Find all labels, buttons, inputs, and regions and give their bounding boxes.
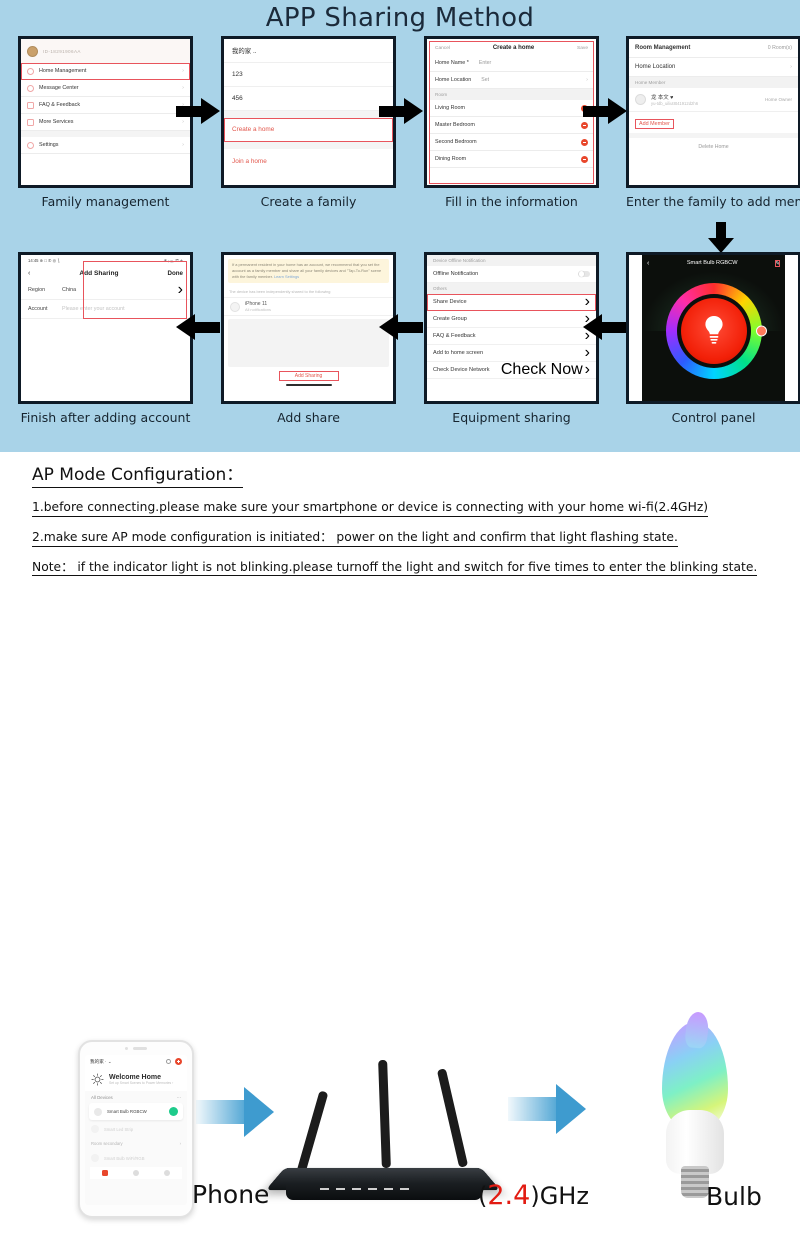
router-antenna: [437, 1068, 468, 1167]
empty-area: [228, 319, 389, 367]
home-icon: [27, 68, 34, 75]
room-group-header: Room secondary ›: [85, 1138, 187, 1149]
home-list-item[interactable]: 123: [224, 63, 393, 87]
divider: [224, 142, 393, 149]
step-caption: Finish after adding account: [18, 410, 193, 425]
label-phone: Phone: [192, 1180, 269, 1209]
bulb-icon: [91, 1154, 99, 1162]
step-finish-adding-account: 14:45 ⊕ □ ✆ ◎ ⎞ ④ ᵢ₄₃ₖ ⎚ ⏚ ‹ Add Sharing…: [18, 252, 193, 425]
offline-section-header: Device Offline Notification: [427, 255, 596, 266]
color-wheel-knob[interactable]: [756, 325, 767, 336]
field-label: Region: [28, 287, 62, 293]
bulb-screw-base: [681, 1166, 709, 1198]
device-sub: All notifications: [245, 307, 271, 312]
field-value: Set: [481, 77, 489, 83]
room-label: Master Bedroom: [435, 122, 475, 128]
step-fill-information: Cancel Create a home Save Home Name * En…: [424, 36, 599, 209]
ap-mode-step-2: 2.make sure AP mode configuration is ini…: [32, 530, 678, 547]
field-home-location[interactable]: Home Location Set ›: [429, 72, 594, 89]
router-illustration: [268, 1052, 498, 1217]
welcome-title: Welcome Home: [109, 1074, 173, 1081]
menu-item-settings[interactable]: Settings ›: [21, 137, 190, 154]
bell-icon[interactable]: [166, 1059, 171, 1064]
remove-room-icon[interactable]: [581, 156, 588, 163]
connection-illustration: 我的家 · ⌄: [0, 1012, 800, 1252]
menu-item-share-device[interactable]: Share Device ›: [427, 294, 596, 311]
phone-mockup: 我的家 · ⌄: [78, 1040, 194, 1218]
step-caption: Equipment sharing: [424, 410, 599, 425]
share-notice: If a permanent resident in your home has…: [228, 259, 389, 283]
device-icon: [230, 302, 240, 312]
device-power-toggle[interactable]: [169, 1107, 178, 1116]
ghz-suffix: )GHz: [530, 1182, 589, 1210]
add-sharing-button[interactable]: Add Sharing: [279, 371, 339, 381]
menu-item-label: Home Management: [39, 68, 86, 74]
device-name: Smart Bulb RGBCW: [107, 1109, 147, 1114]
flow-row-top: ID-18291906AA Home Management › Message …: [0, 36, 800, 226]
notice-text: If a permanent resident in your home has…: [232, 262, 381, 279]
step-add-members: Room Management 0 Room(s) Home Location …: [626, 36, 800, 209]
menu-item-label: FAQ & Feedback: [433, 333, 476, 339]
step-caption: Fill in the information: [424, 194, 599, 209]
device-card-group[interactable]: Smart Bulb WiFi/RGB: [85, 1149, 187, 1167]
control-panel-navbar: ‹ Smart Bulb RGBCW ✎: [642, 255, 785, 271]
home-selector[interactable]: 我的家 · ⌄: [90, 1059, 112, 1065]
chevron-left-icon[interactable]: ‹: [647, 260, 649, 267]
device-name: Smart Bulb WiFi/RGB: [104, 1156, 145, 1161]
flow-arrow-left: [583, 314, 627, 340]
chevron-right-icon: ›: [182, 142, 184, 148]
bulb-icon: [94, 1108, 102, 1116]
step-control-panel: ‹ Smart Bulb RGBCW ✎: [626, 252, 800, 425]
services-icon: [27, 119, 34, 126]
rooms-section-header: Room: [429, 89, 594, 100]
account-header: ID-18291906AA: [21, 39, 190, 63]
menu-item-home-location[interactable]: Home Location ›: [629, 58, 798, 77]
page-title: Room Management: [635, 45, 690, 51]
menu-item-label: Check Device Network: [433, 367, 490, 373]
room-label: Second Bedroom: [435, 139, 477, 145]
step-caption: Family management: [18, 194, 193, 209]
sun-icon: [91, 1073, 104, 1086]
step-equipment-sharing: Device Offline Notification Offline Noti…: [424, 252, 599, 425]
bulb-icon: [703, 315, 725, 345]
phone-screen-device-settings: Device Offline Notification Offline Noti…: [424, 252, 599, 404]
home-list-item[interactable]: 456: [224, 87, 393, 111]
share-subnote: The device has been independently shared…: [224, 287, 393, 297]
form-title: Create a home: [493, 45, 534, 51]
bulb-illustration: [648, 1022, 744, 1200]
ap-mode-note: Note： if the indicator light is not blin…: [32, 560, 757, 577]
ghz-number: 2.4: [487, 1180, 530, 1211]
phone-screen-create-family: 我的家 .. 123 456 Create a home Join a home: [221, 36, 396, 188]
check-now-label: Check Now: [501, 361, 583, 379]
room-item-living-room[interactable]: Living Room: [429, 100, 594, 117]
flow-arrow-right: [583, 98, 627, 124]
notice-link[interactable]: Learn Settings: [274, 274, 299, 279]
bottom-tabbar: [90, 1167, 182, 1179]
setting-offline-notification[interactable]: Offline Notification: [427, 266, 596, 283]
divider: [224, 111, 393, 118]
label-ghz: (2.4)GHz: [478, 1180, 589, 1211]
ap-mode-section: AP Mode Configuration： 1.before connecti…: [0, 452, 800, 800]
tab-scene-icon[interactable]: [133, 1170, 139, 1176]
menu-item-label: More Services: [39, 119, 73, 125]
add-sharing-highlight: [83, 261, 187, 319]
step-family-management: ID-18291906AA Home Management › Message …: [18, 36, 193, 209]
chevron-right-icon: ›: [182, 68, 184, 74]
step-caption: Create a family: [221, 194, 396, 209]
create-home-button[interactable]: Create a home: [224, 118, 393, 142]
field-placeholder: Enter: [479, 60, 491, 66]
tab-profile-icon[interactable]: [164, 1170, 170, 1176]
save-button[interactable]: Save: [577, 46, 588, 51]
room-label: Dining Room: [435, 156, 466, 162]
chevron-down-icon[interactable]: ›: [180, 1141, 181, 1146]
tab-home-icon[interactable]: [102, 1170, 108, 1176]
strip-icon: [91, 1125, 99, 1133]
delete-home-button[interactable]: Delete Home: [629, 138, 798, 155]
step-add-share: If a permanent resident in your home has…: [221, 252, 396, 425]
step-caption: Control panel: [626, 410, 800, 425]
member-section-header: Home Member: [629, 77, 798, 88]
router-leds: [320, 1188, 409, 1190]
speaker-grille: [133, 1047, 147, 1050]
shared-device-row[interactable]: iPhone 11 All notifications: [224, 297, 393, 316]
offline-notification-toggle[interactable]: [578, 271, 590, 278]
menu-item-home-management[interactable]: Home Management ›: [21, 63, 190, 80]
room-count: 0 Room(s): [768, 45, 792, 51]
router-front: [286, 1184, 482, 1200]
side-margin-left: [629, 255, 642, 401]
message-icon: [27, 85, 34, 92]
gear-icon: [27, 142, 34, 149]
field-value: China: [62, 287, 76, 293]
ghz-prefix: (: [478, 1182, 487, 1210]
room-item-dining-room[interactable]: Dining Room: [429, 151, 594, 168]
menu-item-label: Create Group: [433, 316, 467, 322]
flow-row-bottom: 14:45 ⊕ □ ✆ ◎ ⎞ ④ ᵢ₄₃ₖ ⎚ ⏚ ‹ Add Sharing…: [0, 252, 800, 442]
menu-item-label: Add to home screen: [433, 350, 483, 356]
bulb-body: [666, 1110, 724, 1174]
back-icon[interactable]: ‹: [28, 270, 30, 277]
remove-room-icon[interactable]: [581, 139, 588, 146]
side-margin-right: [785, 255, 798, 401]
color-preview-disc: [681, 298, 747, 364]
control-panel-body: ‹ Smart Bulb RGBCW ✎: [629, 255, 798, 401]
ap-mode-step-1: 1.before connecting.please make sure you…: [32, 500, 708, 517]
menu-item-label: Settings: [39, 142, 58, 148]
menu-item-faq-feedback[interactable]: FAQ & Feedback ›: [21, 97, 190, 114]
faq-icon: [27, 102, 34, 109]
member-email: yu-tdb_uiliut8t41912d2h6: [651, 101, 698, 106]
label-bulb: Bulb: [706, 1182, 762, 1211]
flow-arrow-left: [379, 314, 423, 340]
device-card[interactable]: Smart Bulb RGBCW: [89, 1103, 183, 1120]
step-create-family: 我的家 .. 123 456 Create a home Join a home…: [221, 36, 396, 209]
device-name: Smart Led Strip: [104, 1127, 133, 1132]
avatar: [635, 94, 646, 105]
add-member-button[interactable]: Add Member: [635, 119, 674, 129]
phone-screen-room-management: Room Management 0 Room(s) Home Location …: [626, 36, 800, 188]
step-caption: Enter the family to add members: [626, 194, 800, 209]
phone-screen-control-panel: ‹ Smart Bulb RGBCW ✎: [626, 252, 800, 404]
member-role: Home Owner: [765, 97, 792, 102]
welcome-subtitle: Set up Smart Scenes to Power Memories ›: [109, 1081, 173, 1085]
device-card-secondary[interactable]: Smart Led Strip: [85, 1120, 187, 1138]
cancel-button[interactable]: Cancel: [435, 46, 450, 51]
router-antenna: [378, 1060, 391, 1168]
menu-item-label: Home Location: [635, 64, 675, 70]
field-home-name[interactable]: Home Name * Enter: [429, 55, 594, 72]
room-item-master-bedroom[interactable]: Master Bedroom: [429, 117, 594, 134]
room-label: Living Room: [435, 105, 465, 111]
phone-screen-family-management: ID-18291906AA Home Management › Message …: [18, 36, 193, 188]
device-title: Smart Bulb RGBCW: [687, 260, 738, 266]
room-item-second-bedroom[interactable]: Second Bedroom: [429, 134, 594, 151]
welcome-banner: Welcome Home Set up Smart Scenes to Powe…: [85, 1068, 187, 1091]
flow-arrow-down: [708, 222, 734, 252]
all-devices-label: All Devices: [91, 1095, 113, 1101]
menu-item-label: FAQ & Feedback: [39, 102, 80, 108]
page-title: APP Sharing Method: [0, 0, 800, 33]
setting-label: Offline Notification: [433, 271, 478, 277]
ap-mode-text-block: AP Mode Configuration： 1.before connecti…: [0, 452, 800, 587]
ap-mode-title: AP Mode Configuration：: [32, 460, 243, 488]
room-management-header: Room Management 0 Room(s): [629, 39, 798, 58]
flow-arrow-right: [379, 98, 423, 124]
chevron-right-icon: ›: [790, 64, 792, 70]
field-label: Home Location: [435, 77, 471, 83]
form-navbar: Cancel Create a home Save: [429, 41, 594, 55]
menu-item-message-center[interactable]: Message Center ›: [21, 80, 190, 97]
member-name: 龙 本文 ♥: [651, 93, 698, 101]
add-device-icon[interactable]: [175, 1058, 182, 1065]
step-caption: Add share: [221, 410, 396, 425]
menu-item-faq-feedback[interactable]: FAQ & Feedback ›: [427, 328, 596, 345]
flow-arrow-left: [176, 314, 220, 340]
group-label: Room secondary: [91, 1141, 123, 1146]
camera-icon: [125, 1047, 128, 1050]
phone-screen-add-sharing: 14:45 ⊕ □ ✆ ◎ ⎞ ④ ᵢ₄₃ₖ ⎚ ⏚ ‹ Add Sharing…: [18, 252, 193, 404]
join-home-button[interactable]: Join a home: [224, 149, 393, 173]
arrow-router-to-bulb: [508, 1084, 586, 1134]
field-label: Account: [28, 306, 62, 312]
avatar: [27, 46, 38, 57]
phone-screen-create-home-form: Cancel Create a home Save Home Name * En…: [424, 36, 599, 188]
menu-item-more-services[interactable]: More Services ›: [21, 114, 190, 131]
arrow-phone-to-router: [196, 1087, 274, 1137]
status-time: 14:45 ⊕ □ ✆ ◎ ⎞: [28, 258, 60, 263]
menu-item-check-device-network[interactable]: Check Device Network Check Now ›: [427, 362, 596, 379]
pencil-icon[interactable]: ✎: [775, 260, 780, 267]
chevron-right-icon: ›: [586, 77, 588, 83]
menu-item-label: Share Device: [433, 299, 467, 305]
app-topbar: 我的家 · ⌄: [85, 1055, 187, 1068]
chevron-right-icon: ›: [585, 293, 590, 311]
chevron-right-icon: ›: [182, 85, 184, 91]
home-indicator: [286, 384, 332, 386]
color-wheel[interactable]: [666, 283, 762, 379]
form-highlight-region: Cancel Create a home Save Home Name * En…: [429, 41, 594, 184]
more-icon[interactable]: ⋯: [177, 1095, 181, 1101]
others-section-header: Others: [427, 283, 596, 294]
all-devices-header: All Devices ⋯: [85, 1091, 187, 1103]
phone-speaker: [80, 1042, 192, 1055]
phone-screen-share-list: If a permanent resident in your home has…: [221, 252, 396, 404]
app-sharing-method-section: APP Sharing Method ID-18291906AA Home Ma…: [0, 0, 800, 452]
chevron-right-icon: ›: [585, 344, 590, 362]
flow-arrow-right: [176, 98, 220, 124]
chevron-right-icon: ›: [585, 361, 590, 379]
menu-item-label: Message Center: [39, 85, 79, 91]
home-list-item[interactable]: 我的家 ..: [224, 39, 393, 63]
menu-item-add-to-home-screen[interactable]: Add to home screen ›: [427, 345, 596, 362]
user-id: ID-18291906AA: [43, 49, 81, 54]
field-label: Home Name *: [435, 60, 469, 66]
member-row[interactable]: 龙 本文 ♥ yu-tdb_uiliut8t41912d2h6 Home Own…: [629, 88, 798, 112]
menu-item-create-group[interactable]: Create Group ›: [427, 311, 596, 328]
router-antenna: [297, 1090, 329, 1173]
phone-screen: 我的家 · ⌄: [85, 1055, 187, 1205]
